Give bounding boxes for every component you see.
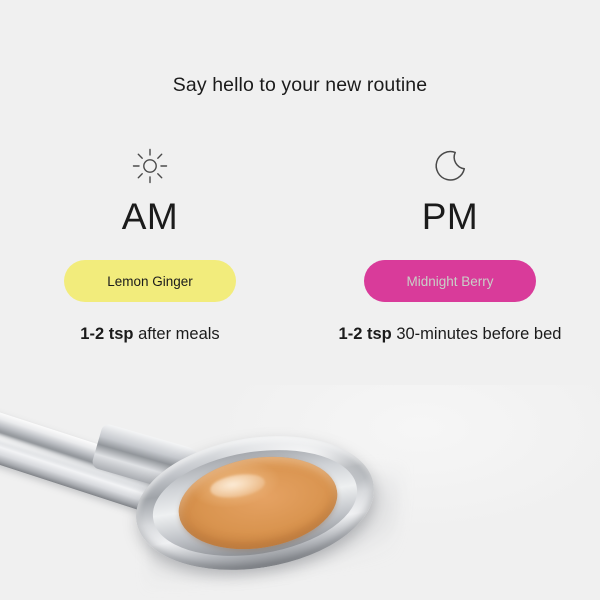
routine-column-am: AM Lemon Ginger 1-2 tsp after meals <box>0 140 300 348</box>
dosage-timing-am: after meals <box>133 325 219 343</box>
dosage-amount-am: 1-2 tsp <box>80 325 133 343</box>
spoon-photo <box>0 385 600 600</box>
dosage-am: 1-2 tsp after meals <box>35 322 265 348</box>
period-label-pm: PM <box>422 198 479 235</box>
page-title: Say hello to your new routine <box>0 74 600 97</box>
moon-icon <box>428 140 472 192</box>
flavor-pill-pm-label: Midnight Berry <box>406 274 493 289</box>
routine-columns: AM Lemon Ginger 1-2 tsp after meals PM M… <box>0 140 600 348</box>
period-label-am: AM <box>122 198 179 235</box>
flavor-pill-pm[interactable]: Midnight Berry <box>364 260 536 302</box>
dosage-timing-pm: 30-minutes before bed <box>392 325 562 343</box>
flavor-pill-am[interactable]: Lemon Ginger <box>64 260 236 302</box>
promo-canvas: Say hello to your new routine AM <box>0 0 600 600</box>
dosage-amount-pm: 1-2 tsp <box>339 325 392 343</box>
sun-icon <box>128 140 172 192</box>
routine-column-pm: PM Midnight Berry 1-2 tsp 30-minutes bef… <box>300 140 600 348</box>
dosage-pm: 1-2 tsp 30-minutes before bed <box>335 322 565 348</box>
flavor-pill-am-label: Lemon Ginger <box>107 274 193 289</box>
